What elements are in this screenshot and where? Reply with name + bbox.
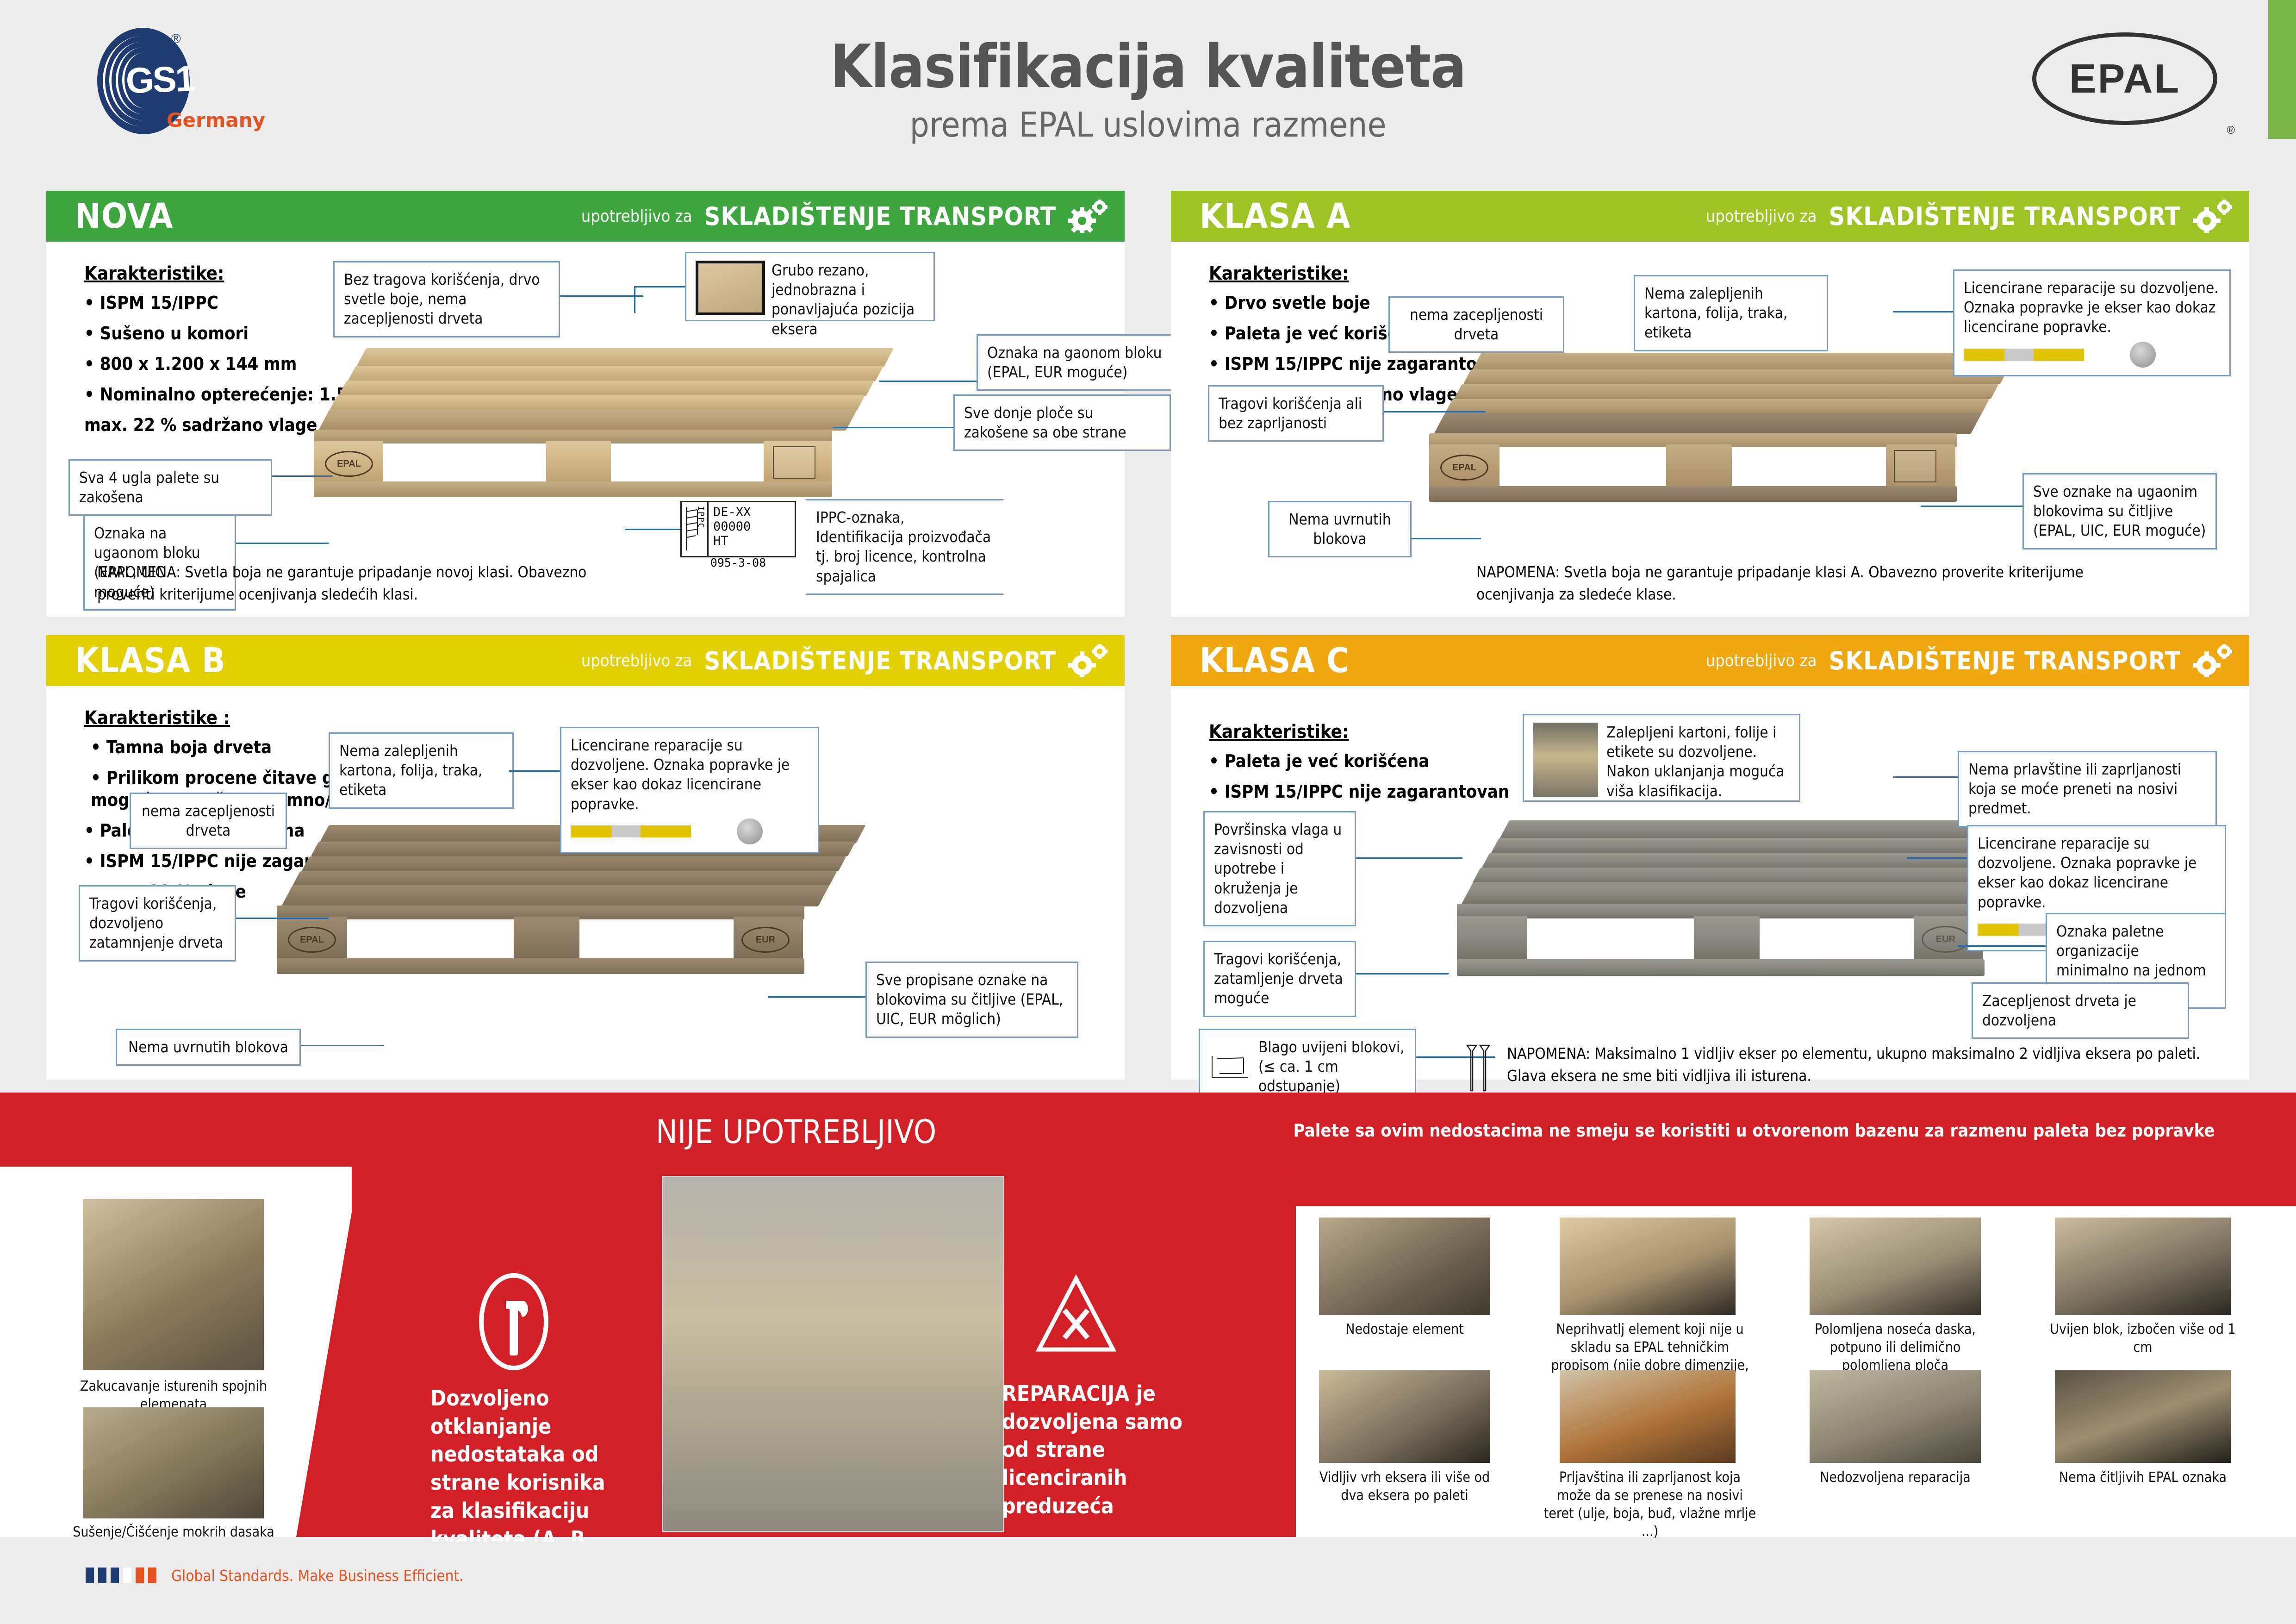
callout-use-traces: Tragovi korišćenja ali bez zaprljanosti	[1208, 385, 1384, 442]
pallet-photo-klasa-a: EPAL	[1421, 353, 2046, 506]
klasa-a-note: NAPOMENA: Svetla boja ne garantuje pripa…	[1476, 561, 2124, 606]
panel-klasa-b-title: KLASA B	[75, 641, 226, 681]
epal-stamp-icon: EPAL	[1440, 455, 1488, 481]
defect-caption-7: Nedozvoljena reparacija	[1796, 1468, 1995, 1487]
callout-licensed-repairs: Licencirane reparacije su dozvoljene. Oz…	[560, 727, 819, 853]
warning-triangle-icon	[1032, 1273, 1120, 1356]
repair-nail-head-icon	[2130, 342, 2156, 368]
unusable-title: NIJE UPOTREBLJIVO	[611, 1113, 981, 1151]
callout-bottom-boards: Sve donje ploče su zakošene sa obe stran…	[953, 394, 1171, 451]
features-heading: Karakteristike:	[1209, 263, 1509, 284]
gs1-bars-icon	[86, 1568, 156, 1583]
usage-kinds: SKLADIŠTENJE TRANSPORT	[1829, 646, 2181, 675]
callout-marks-readable: Sve oznake na ugaonim blokovima su čitlj…	[2022, 473, 2217, 550]
defect-photo-6	[1560, 1370, 1736, 1463]
usage-label: upotrebljivo za	[1706, 207, 1817, 226]
callout-licensed-repairs-text: Licencirane reparacije su dozvoljene. Oz…	[571, 736, 790, 813]
defect-photo-1	[1319, 1218, 1490, 1315]
panel-klasa-b-header: KLASA B upotrebljivo za SKLADIŠTENJE TRA…	[46, 635, 1125, 686]
epal-stamp-icon: EPAL	[325, 451, 373, 477]
list-item: • Paleta je već korišćena	[1209, 751, 1509, 771]
panel-klasa-a-header: KLASA A upotrebljivo za SKLADIŠTENJE TRA…	[1171, 191, 2249, 242]
unusable-subtitle: Palete sa ovim nedostacima ne smeju se k…	[1287, 1120, 2221, 1141]
callout-corners-chamfered: Sva 4 ugla palete su zakošena	[68, 459, 272, 516]
usage-kinds: SKLADIŠTENJE TRANSPORT	[1829, 202, 2181, 231]
ippc-stamp-icon	[773, 446, 815, 479]
eur-stamp-icon: EUR	[741, 927, 790, 953]
page-header: GS1 ® Germany Klasifikacija kvaliteta pr…	[0, 0, 2296, 181]
eur-stamp-icon: EUR	[1922, 926, 1970, 953]
sticker-on-pallet-photo	[1533, 723, 1598, 797]
ippc-wheat-icon: IPPC	[682, 502, 709, 556]
defect-photo-3	[1810, 1218, 1981, 1315]
callout-mark-on-block: Oznaka na gaonom bloku (EPAL, EUR moguće…	[977, 334, 1180, 391]
twisted-blocks-line2: (≤ ca. 1 cm odstupanje)	[1258, 1057, 1340, 1095]
callout-rough-cut: Grubo rezano, jednobrazna i ponavljajuća…	[685, 252, 935, 321]
footer-tagline: Global Standards. Make Business Efficien…	[171, 1567, 464, 1585]
wet-boards-photo	[83, 1407, 264, 1518]
list-item: • ISPM 15/IPPC nije zagarantovan	[1209, 781, 1509, 802]
features-heading: Karakteristike :	[84, 707, 385, 729]
defect-photo-8	[2055, 1370, 2231, 1463]
callout-no-splits: nema zacepljenosti drveta	[130, 793, 287, 849]
callout-no-splits: nema zacepljenosti drveta	[1388, 296, 1564, 353]
repair-nail-icon	[571, 825, 691, 837]
klasa-c-note: NAPOMENA: Maksimalno 1 vidljiv ekser po …	[1507, 1043, 2210, 1087]
panel-klasa-b: KLASA B upotrebljivo za SKLADIŠTENJE TRA…	[46, 635, 1125, 1080]
page-subtitle: prema EPAL uslovima razmene	[0, 105, 2296, 145]
epal-wordmark: EPAL	[2069, 55, 2180, 102]
epal-oval-mark: EPAL	[2032, 32, 2217, 125]
defect-caption-4: Uvijen blok, izbočen više od 1 cm	[2046, 1320, 2240, 1356]
defect-caption-1: Nedostaje element	[1310, 1320, 1500, 1338]
defect-caption-5: Vidljiv vrh eksera ili više od dva ekser…	[1310, 1468, 1500, 1505]
ippc-code: DE-XX 00000 HT	[709, 502, 795, 556]
page-title-block: Klasifikacija kvaliteta prema EPAL uslov…	[0, 32, 2296, 145]
callout-no-stickers: Nema zalepljenih kartona, folija, traka,…	[329, 732, 514, 809]
panel-klasa-b-body: Karakteristike : • Tamna boja drveta • P…	[46, 686, 1125, 1080]
callout-stickers-allowed-text: Zalepljeni kartoni, folije i etikete su …	[1606, 723, 1790, 801]
callout-splits-allowed: Zacepljenost drveta je dozvoljena	[1972, 982, 2189, 1039]
panel-klasa-a-title: KLASA A	[1200, 196, 1351, 236]
features-heading: Karakteristike:	[1209, 721, 1509, 743]
panel-nova: NOVA upotrebljivo za SKLADIŠTENJE TRANSP…	[46, 191, 1125, 617]
callout-no-twisted-blocks: Nema uvrnutih blokova	[116, 1029, 301, 1066]
gears-icon	[2193, 644, 2234, 677]
klasa-c-note-block: NAPOMENA: Maksimalno 1 vidljiv ekser po …	[1462, 1043, 2226, 1093]
nova-note: NAPOMENA: Svetla boja ne garantuje pripa…	[97, 561, 643, 606]
callout-ippc: IPPC-oznaka, Identifikacija proizvođača …	[805, 499, 1004, 595]
gears-icon	[1068, 644, 1109, 677]
panel-klasa-c-title: KLASA C	[1200, 641, 1350, 681]
page-title: Klasifikacija kvaliteta	[0, 32, 2296, 101]
panel-klasa-a: KLASA A upotrebljivo za SKLADIŠTENJE TRA…	[1171, 191, 2249, 617]
twisted-block-diagram-icon	[1209, 1053, 1251, 1080]
panel-klasa-a-body: Karakteristike: • Drvo svetle boje • Pal…	[1171, 242, 2249, 617]
callout-licensed-repairs: Licencirane reparacije su dozvoljene. Oz…	[1953, 269, 2231, 376]
defect-photo-4	[2055, 1218, 2231, 1315]
panel-nova-title: NOVA	[75, 196, 173, 236]
callout-licensed-repairs-text: Licencirane reparacije su dozvoljene. Oz…	[1978, 834, 2196, 911]
pallet-photo-nova: EPAL	[305, 348, 916, 501]
callout-twisted-blocks-text: Blago uvijeni blokovi, (≤ ca. 1 cm odstu…	[1258, 1037, 1406, 1096]
panel-nova-body: Karakteristike: • ISPM 15/IPPC • Sušeno …	[46, 242, 1125, 617]
left-caption-2: Sušenje/Čišćenje mokrih dasaka	[69, 1523, 278, 1541]
hammer-nailing-photo	[83, 1199, 264, 1370]
ippc-side-label: IPPC	[696, 506, 705, 529]
panel-nova-header: NOVA upotrebljivo za SKLADIŠTENJE TRANSP…	[46, 191, 1125, 242]
defect-photo-2	[1560, 1218, 1736, 1315]
callout-use-traces: Tragovi korišćenja, zatamljenje drveta m…	[1203, 941, 1356, 1017]
callout-stickers-allowed: Zalepljeni kartoni, folije i etikete su …	[1523, 714, 1800, 802]
panel-klasa-c-body: Karakteristike: • Paleta je već korišćen…	[1171, 686, 2249, 1080]
page-footer: Global Standards. Make Business Efficien…	[0, 1542, 2296, 1624]
callout-licensed-repairs-text: Licencirane reparacije su dozvoljene. Oz…	[1964, 279, 2219, 336]
unusable-section: NIJE UPOTREBLJIVO Palete sa ovim nedosta…	[0, 1093, 2296, 1537]
usage-label: upotrebljivo za	[581, 651, 692, 670]
usage-kinds: SKLADIŠTENJE TRANSPORT	[704, 202, 1056, 231]
defect-photo-7	[1810, 1370, 1981, 1463]
panel-klasa-c-header: KLASA C upotrebljivo za SKLADIŠTENJE TRA…	[1171, 635, 2249, 686]
callout-use-traces: Tragovi korišćenja, dozvoljeno zatamnjen…	[79, 885, 236, 962]
nails-icon	[1462, 1043, 1495, 1093]
nail-position-photo	[696, 261, 765, 315]
repair-only-licensed-text: REPARACIJA je dozvoljena samo od strane …	[1002, 1380, 1196, 1520]
ippc-stamp-icon	[1894, 450, 1936, 482]
defect-caption-6: Prljavština ili zaprljanost koja može da…	[1541, 1468, 1759, 1541]
defect-photo-5	[1319, 1370, 1490, 1463]
epal-stamp-icon: EPAL	[288, 927, 336, 953]
repair-nail-head-icon	[737, 818, 763, 844]
twisted-blocks-line1: Blago uvijeni blokovi,	[1258, 1038, 1405, 1056]
pallet-stack-photo	[662, 1176, 1004, 1532]
usage-kinds: SKLADIŠTENJE TRANSPORT	[704, 646, 1056, 675]
registered-icon: ®	[2227, 124, 2235, 137]
callout-no-stickers: Nema zalepljenih kartona, folija, traka,…	[1634, 275, 1828, 351]
gears-icon	[1068, 200, 1109, 233]
epal-logo: EPAL ®	[2032, 32, 2227, 139]
callout-no-use-traces: Bez tragova korišćenja, drvo svetle boje…	[333, 261, 560, 337]
ippc-stamp-box: IPPC DE-XX 00000 HT 095-3-08	[680, 501, 796, 557]
klasa-c-features-block: Karakteristike: • Paleta je već korišćen…	[1209, 721, 1509, 812]
usage-label: upotrebljivo za	[1706, 651, 1817, 670]
hammer-circle-icon	[479, 1273, 548, 1370]
callout-no-dirt: Nema prlavštine ili zaprljanosti koja se…	[1958, 751, 2217, 827]
callout-no-twisted-blocks: Nema uvrnutih blokova	[1268, 501, 1412, 557]
panel-klasa-c: KLASA C upotrebljivo za SKLADIŠTENJE TRA…	[1171, 635, 2249, 1080]
defect-caption-8: Nema čitljivih EPAL oznaka	[2046, 1468, 2240, 1487]
ippc-control-number: 095-3-08	[682, 556, 795, 569]
usage-label: upotrebljivo za	[581, 207, 692, 226]
callout-marks-readable: Sve propisane oznake na blokovima su čit…	[865, 962, 1078, 1038]
repair-nail-icon	[1964, 349, 2084, 361]
defect-caption-3: Polomljena noseća daska, potpuno ili del…	[1796, 1320, 1995, 1374]
gears-icon	[2193, 200, 2234, 233]
callout-surface-moisture: Površinska vlaga u zavisnosti od upotreb…	[1203, 811, 1356, 926]
callout-rough-cut-text: Grubo rezano, jednobrazna i ponavljajuća…	[772, 261, 924, 339]
